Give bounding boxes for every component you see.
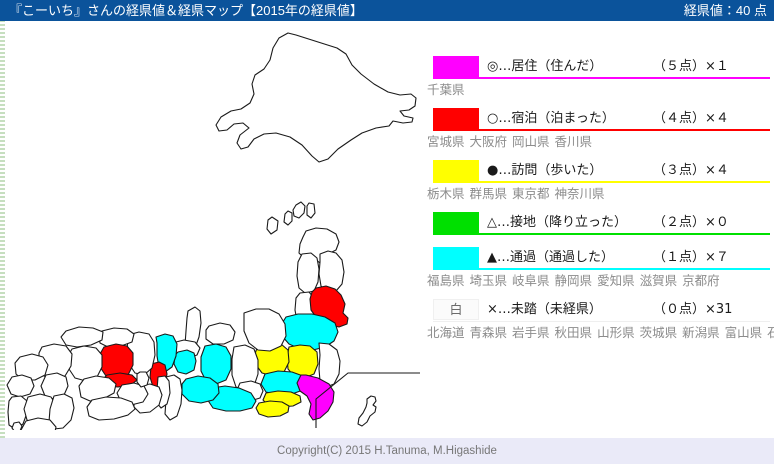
legend-underline-stayed bbox=[433, 129, 770, 131]
prefecture-name: 岡山県 bbox=[512, 135, 550, 149]
prefecture-name: 新潟県 bbox=[682, 326, 720, 340]
legend-swatch-residence bbox=[433, 56, 479, 77]
legend-swatch-stayed bbox=[433, 108, 479, 129]
prefecture-kanagawa[interactable] bbox=[256, 401, 289, 417]
hokkaido-island-d bbox=[267, 217, 278, 234]
legend-row-stayed: ○…宿泊（泊まった） （４点）×４ 宮城県大阪府岡山県香川県 bbox=[425, 107, 770, 151]
prefecture-name: 石川県 bbox=[767, 326, 774, 340]
copyright-text: Copyright(C) 2015 H.Tanuma, M.Higashide bbox=[277, 445, 497, 457]
left-edge-strip bbox=[0, 20, 5, 464]
prefecture-toyama[interactable] bbox=[206, 323, 235, 344]
prefecture-name: 群馬県 bbox=[470, 187, 508, 201]
prefecture-name: 神奈川県 bbox=[555, 187, 605, 201]
legend-swatch-untrodden: 白 bbox=[433, 299, 479, 320]
prefecture-name: 岐阜県 bbox=[512, 274, 550, 288]
legend-row-touched: △…接地（降り立った） （２点）×０ bbox=[425, 211, 770, 238]
prefecture-name: 大阪府 bbox=[470, 135, 508, 149]
prefecture-name: 静岡県 bbox=[555, 274, 593, 288]
prefecture-name: 茨城県 bbox=[640, 326, 678, 340]
legend-row-visited: ●…訪問（歩いた） （３点）×４ 栃木県群馬県東京都神奈川県 bbox=[425, 159, 770, 203]
prefecture-name: 愛知県 bbox=[597, 274, 635, 288]
hokkaido-island-a bbox=[293, 202, 305, 218]
legend-prefectures-visited: 栃木県群馬県東京都神奈川県 bbox=[425, 184, 770, 203]
prefecture-name: 富山県 bbox=[725, 326, 763, 340]
map-panel[interactable] bbox=[6, 25, 420, 430]
legend-points-visited: （３点）×４ bbox=[653, 161, 729, 180]
legend-prefectures-stayed: 宮城県大阪府岡山県香川県 bbox=[425, 132, 770, 151]
page-root: 『こーいち』さんの経県値＆経県マップ【2015年の経県値】 経県値：40 点 bbox=[0, 0, 774, 464]
legend-symbol-residence: ◎…居住（住んだ） bbox=[487, 57, 602, 76]
legend-prefectures-untrodden: 北海道青森県岩手県秋田県山形県茨城県新潟県富山県石川県福井県山梨県長野県三重県兵… bbox=[425, 323, 770, 342]
legend-symbol-visited: ●…訪問（歩いた） bbox=[487, 161, 602, 180]
legend-points-residence: （５点）×１ bbox=[653, 57, 729, 76]
prefecture-iwate[interactable] bbox=[319, 251, 344, 292]
legend-points-untrodden: （０点）×31 bbox=[653, 300, 732, 319]
legend-swatch-touched bbox=[433, 212, 479, 233]
prefecture-okinawa[interactable] bbox=[358, 396, 376, 426]
legend: ◎…居住（住んだ） （５点）×１ 千葉県 ○…宿泊（泊まった） （４点）×４ 宮… bbox=[425, 55, 770, 342]
prefecture-shimane[interactable] bbox=[61, 327, 103, 347]
prefecture-saga[interactable] bbox=[7, 375, 34, 397]
legend-points-stayed: （４点）×４ bbox=[653, 109, 729, 128]
prefecture-name: 滋賀県 bbox=[640, 274, 678, 288]
prefecture-aichi[interactable] bbox=[182, 376, 219, 403]
prefecture-name: 岩手県 bbox=[512, 326, 550, 340]
hokkaido-island-b bbox=[284, 211, 292, 225]
legend-row-untrodden: 白 ×…未踏（未経県） （０点）×31 北海道青森県岩手県秋田県山形県茨城県新潟… bbox=[425, 298, 770, 342]
japan-map-svg[interactable] bbox=[6, 25, 420, 430]
legend-swatch-visited bbox=[433, 160, 479, 181]
prefecture-name: 香川県 bbox=[555, 135, 593, 149]
prefecture-kochi[interactable] bbox=[87, 397, 135, 420]
legend-row-passed: ▲…通過（通過した） （１点）×７ 福島県埼玉県岐阜県静岡県愛知県滋賀県京都府 bbox=[425, 246, 770, 290]
legend-swatch-passed bbox=[433, 247, 479, 268]
prefecture-name: 秋田県 bbox=[555, 326, 593, 340]
prefecture-name: 山形県 bbox=[597, 326, 635, 340]
score-badge: 経県値：40 点 bbox=[684, 4, 767, 17]
legend-symbol-passed: ▲…通過（通過した） bbox=[487, 248, 614, 267]
prefecture-name: 埼玉県 bbox=[470, 274, 508, 288]
prefecture-akita[interactable] bbox=[297, 253, 319, 293]
prefecture-name: 宮城県 bbox=[427, 135, 465, 149]
prefecture-name: 北海道 bbox=[427, 326, 465, 340]
hokkaido-island-c bbox=[307, 203, 315, 218]
prefecture-name: 千葉県 bbox=[427, 83, 465, 97]
legend-prefectures-residence: 千葉県 bbox=[425, 80, 770, 99]
legend-underline-passed bbox=[433, 268, 770, 270]
awaji-island bbox=[137, 372, 149, 387]
legend-prefectures-passed: 福島県埼玉県岐阜県静岡県愛知県滋賀県京都府 bbox=[425, 271, 770, 290]
legend-points-passed: （１点）×７ bbox=[653, 248, 729, 267]
prefecture-shiga[interactable] bbox=[174, 350, 196, 374]
page-title: 『こーいち』さんの経県値＆経県マップ【2015年の経県値】 bbox=[9, 4, 363, 17]
prefecture-hokkaido[interactable] bbox=[216, 33, 416, 162]
legend-underline-touched bbox=[433, 233, 770, 235]
page-header: 『こーいち』さんの経県値＆経県マップ【2015年の経県値】 経県値：40 点 bbox=[0, 0, 774, 21]
kyushu-island-small bbox=[12, 422, 22, 430]
legend-underline-untrodden bbox=[433, 321, 770, 322]
legend-underline-visited bbox=[433, 181, 770, 183]
legend-symbol-stayed: ○…宿泊（泊まった） bbox=[487, 109, 615, 128]
legend-underline-residence bbox=[433, 77, 770, 79]
prefecture-name: 青森県 bbox=[470, 326, 508, 340]
legend-row-residence: ◎…居住（住んだ） （５点）×１ 千葉県 bbox=[425, 55, 770, 99]
legend-symbol-touched: △…接地（降り立った） bbox=[487, 213, 627, 232]
prefecture-niigata[interactable] bbox=[244, 309, 286, 351]
prefecture-name: 栃木県 bbox=[427, 187, 465, 201]
page-footer: Copyright(C) 2015 H.Tanuma, M.Higashide bbox=[0, 438, 774, 464]
legend-points-touched: （２点）×０ bbox=[653, 213, 729, 232]
prefecture-name: 京都府 bbox=[682, 274, 720, 288]
prefecture-name: 東京都 bbox=[512, 187, 550, 201]
prefecture-name: 福島県 bbox=[427, 274, 465, 288]
legend-symbol-untrodden: ×…未踏（未経県） bbox=[487, 300, 602, 319]
